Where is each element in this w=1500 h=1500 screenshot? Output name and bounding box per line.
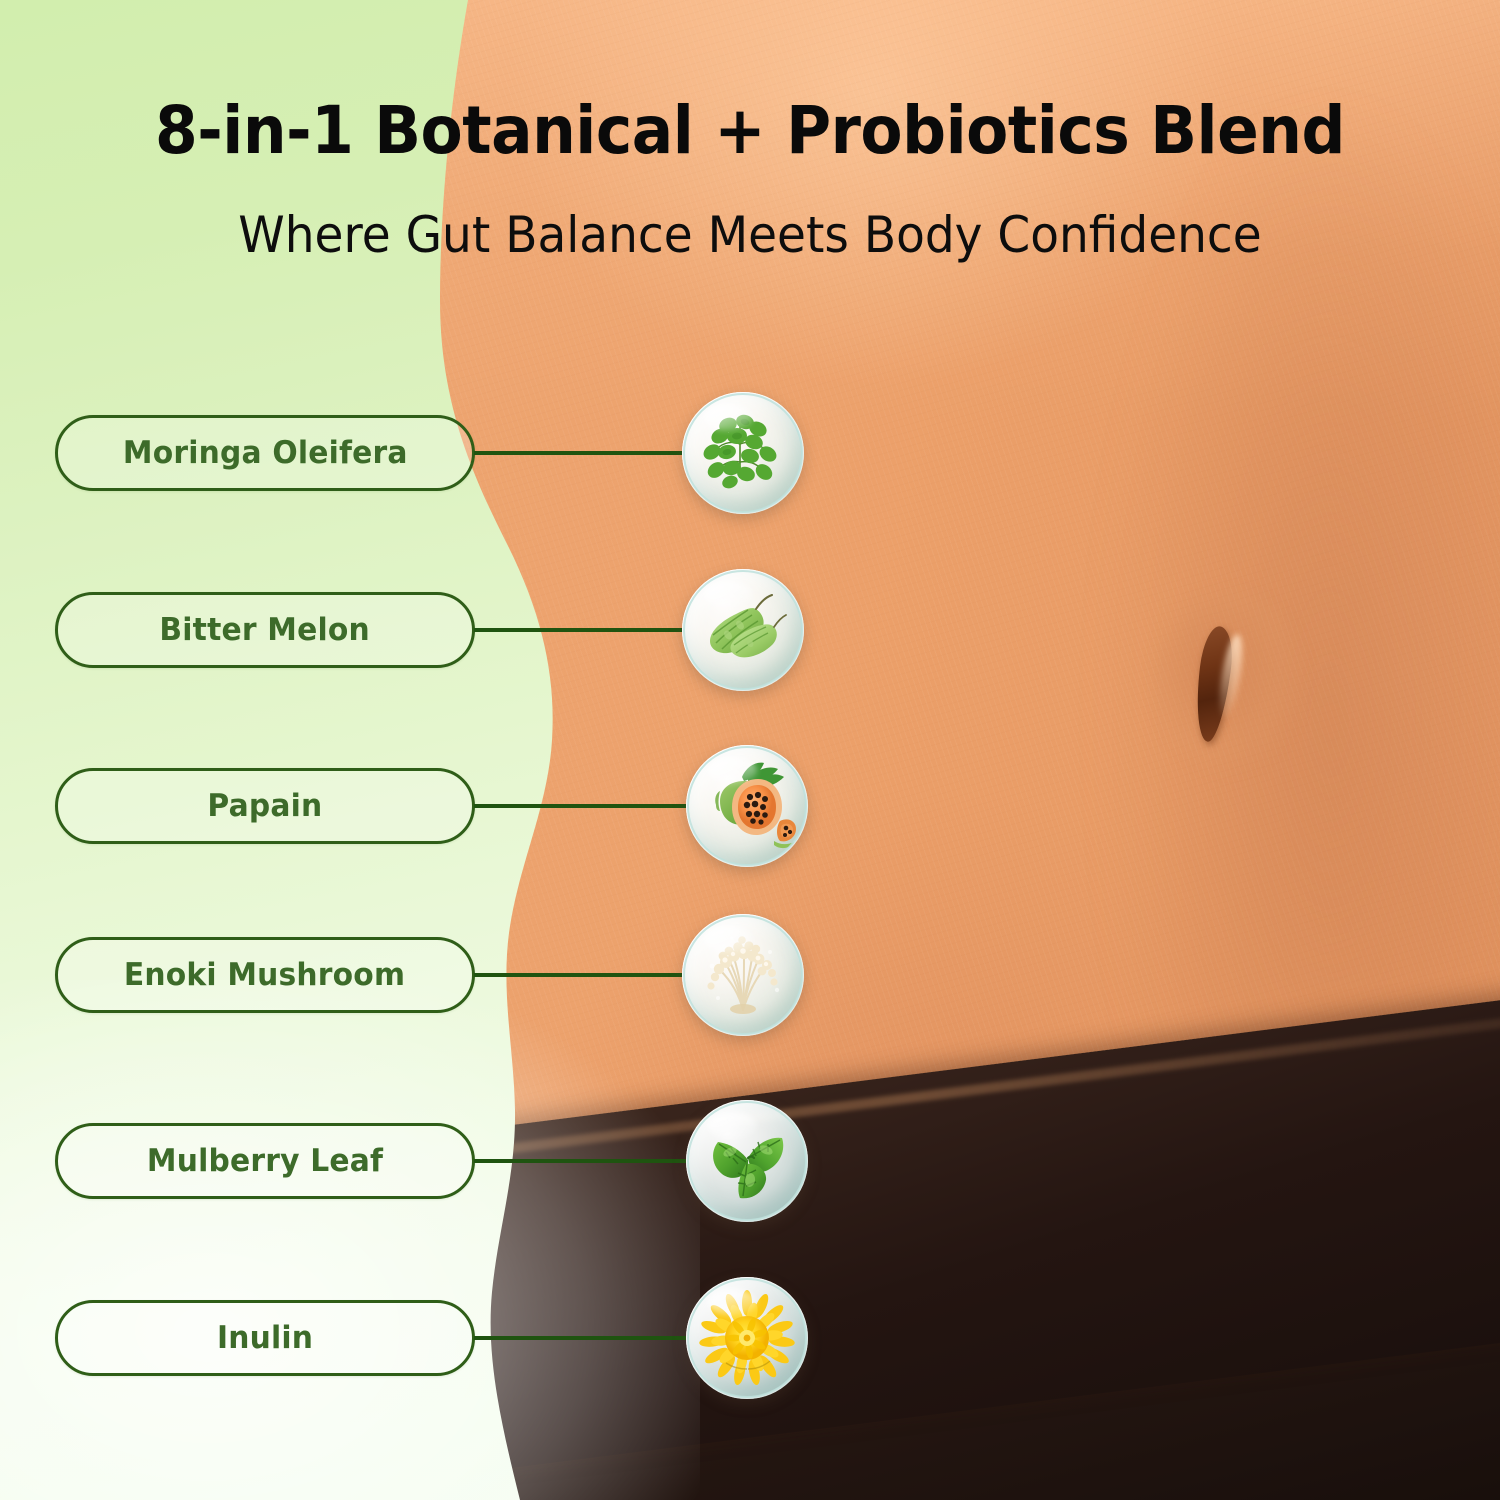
papaya-icon — [686, 745, 808, 867]
page-title: 8-in-1 Botanical + Probiotics Blend — [53, 92, 1448, 169]
ingredient-bubble[interactable] — [686, 745, 808, 867]
ingredient-label: Mulberry Leaf — [147, 1143, 383, 1179]
ingredient-pill-bitter-melon[interactable]: Bitter Melon — [55, 592, 475, 668]
ingredient-pill-mulberry-leaf[interactable]: Mulberry Leaf — [55, 1123, 475, 1199]
ingredient-label: Bitter Melon — [160, 612, 370, 648]
navel — [1148, 588, 1328, 788]
ingredient-pill-moringa-leaves[interactable]: Moringa Oleifera — [55, 415, 475, 491]
connector-line — [474, 804, 686, 808]
connector-line — [474, 1336, 686, 1340]
ingredient-bubble[interactable] — [682, 569, 804, 691]
product-infographic: 8-in-1 Botanical + Probiotics Blend Wher… — [0, 0, 1500, 1500]
bitter-melon-icon — [682, 569, 804, 691]
enoki-mushroom-icon — [682, 914, 804, 1036]
ingredient-bubble[interactable] — [686, 1277, 808, 1399]
ingredient-pill-papaya[interactable]: Papain — [55, 768, 475, 844]
connector-line — [474, 973, 682, 977]
ingredient-pill-enoki-mushroom[interactable]: Enoki Mushroom — [55, 937, 475, 1013]
moringa-leaves-icon — [682, 392, 804, 514]
ingredient-label: Moringa Oleifera — [123, 435, 408, 471]
ingredient-pill-chrysanthemum-flower[interactable]: Inulin — [55, 1300, 475, 1376]
chrysanthemum-flower-icon — [686, 1277, 808, 1399]
mulberry-leaf-icon — [686, 1100, 808, 1222]
connector-line — [474, 451, 682, 455]
ingredient-label: Papain — [207, 788, 322, 824]
page-subtitle: Where Gut Balance Meets Body Confidence — [45, 206, 1455, 264]
ingredient-label: Enoki Mushroom — [124, 957, 405, 993]
ingredient-bubble[interactable] — [682, 914, 804, 1036]
connector-line — [474, 628, 682, 632]
ingredient-bubble[interactable] — [686, 1100, 808, 1222]
ingredient-bubble[interactable] — [682, 392, 804, 514]
connector-line — [474, 1159, 686, 1163]
ingredient-label: Inulin — [217, 1320, 313, 1356]
